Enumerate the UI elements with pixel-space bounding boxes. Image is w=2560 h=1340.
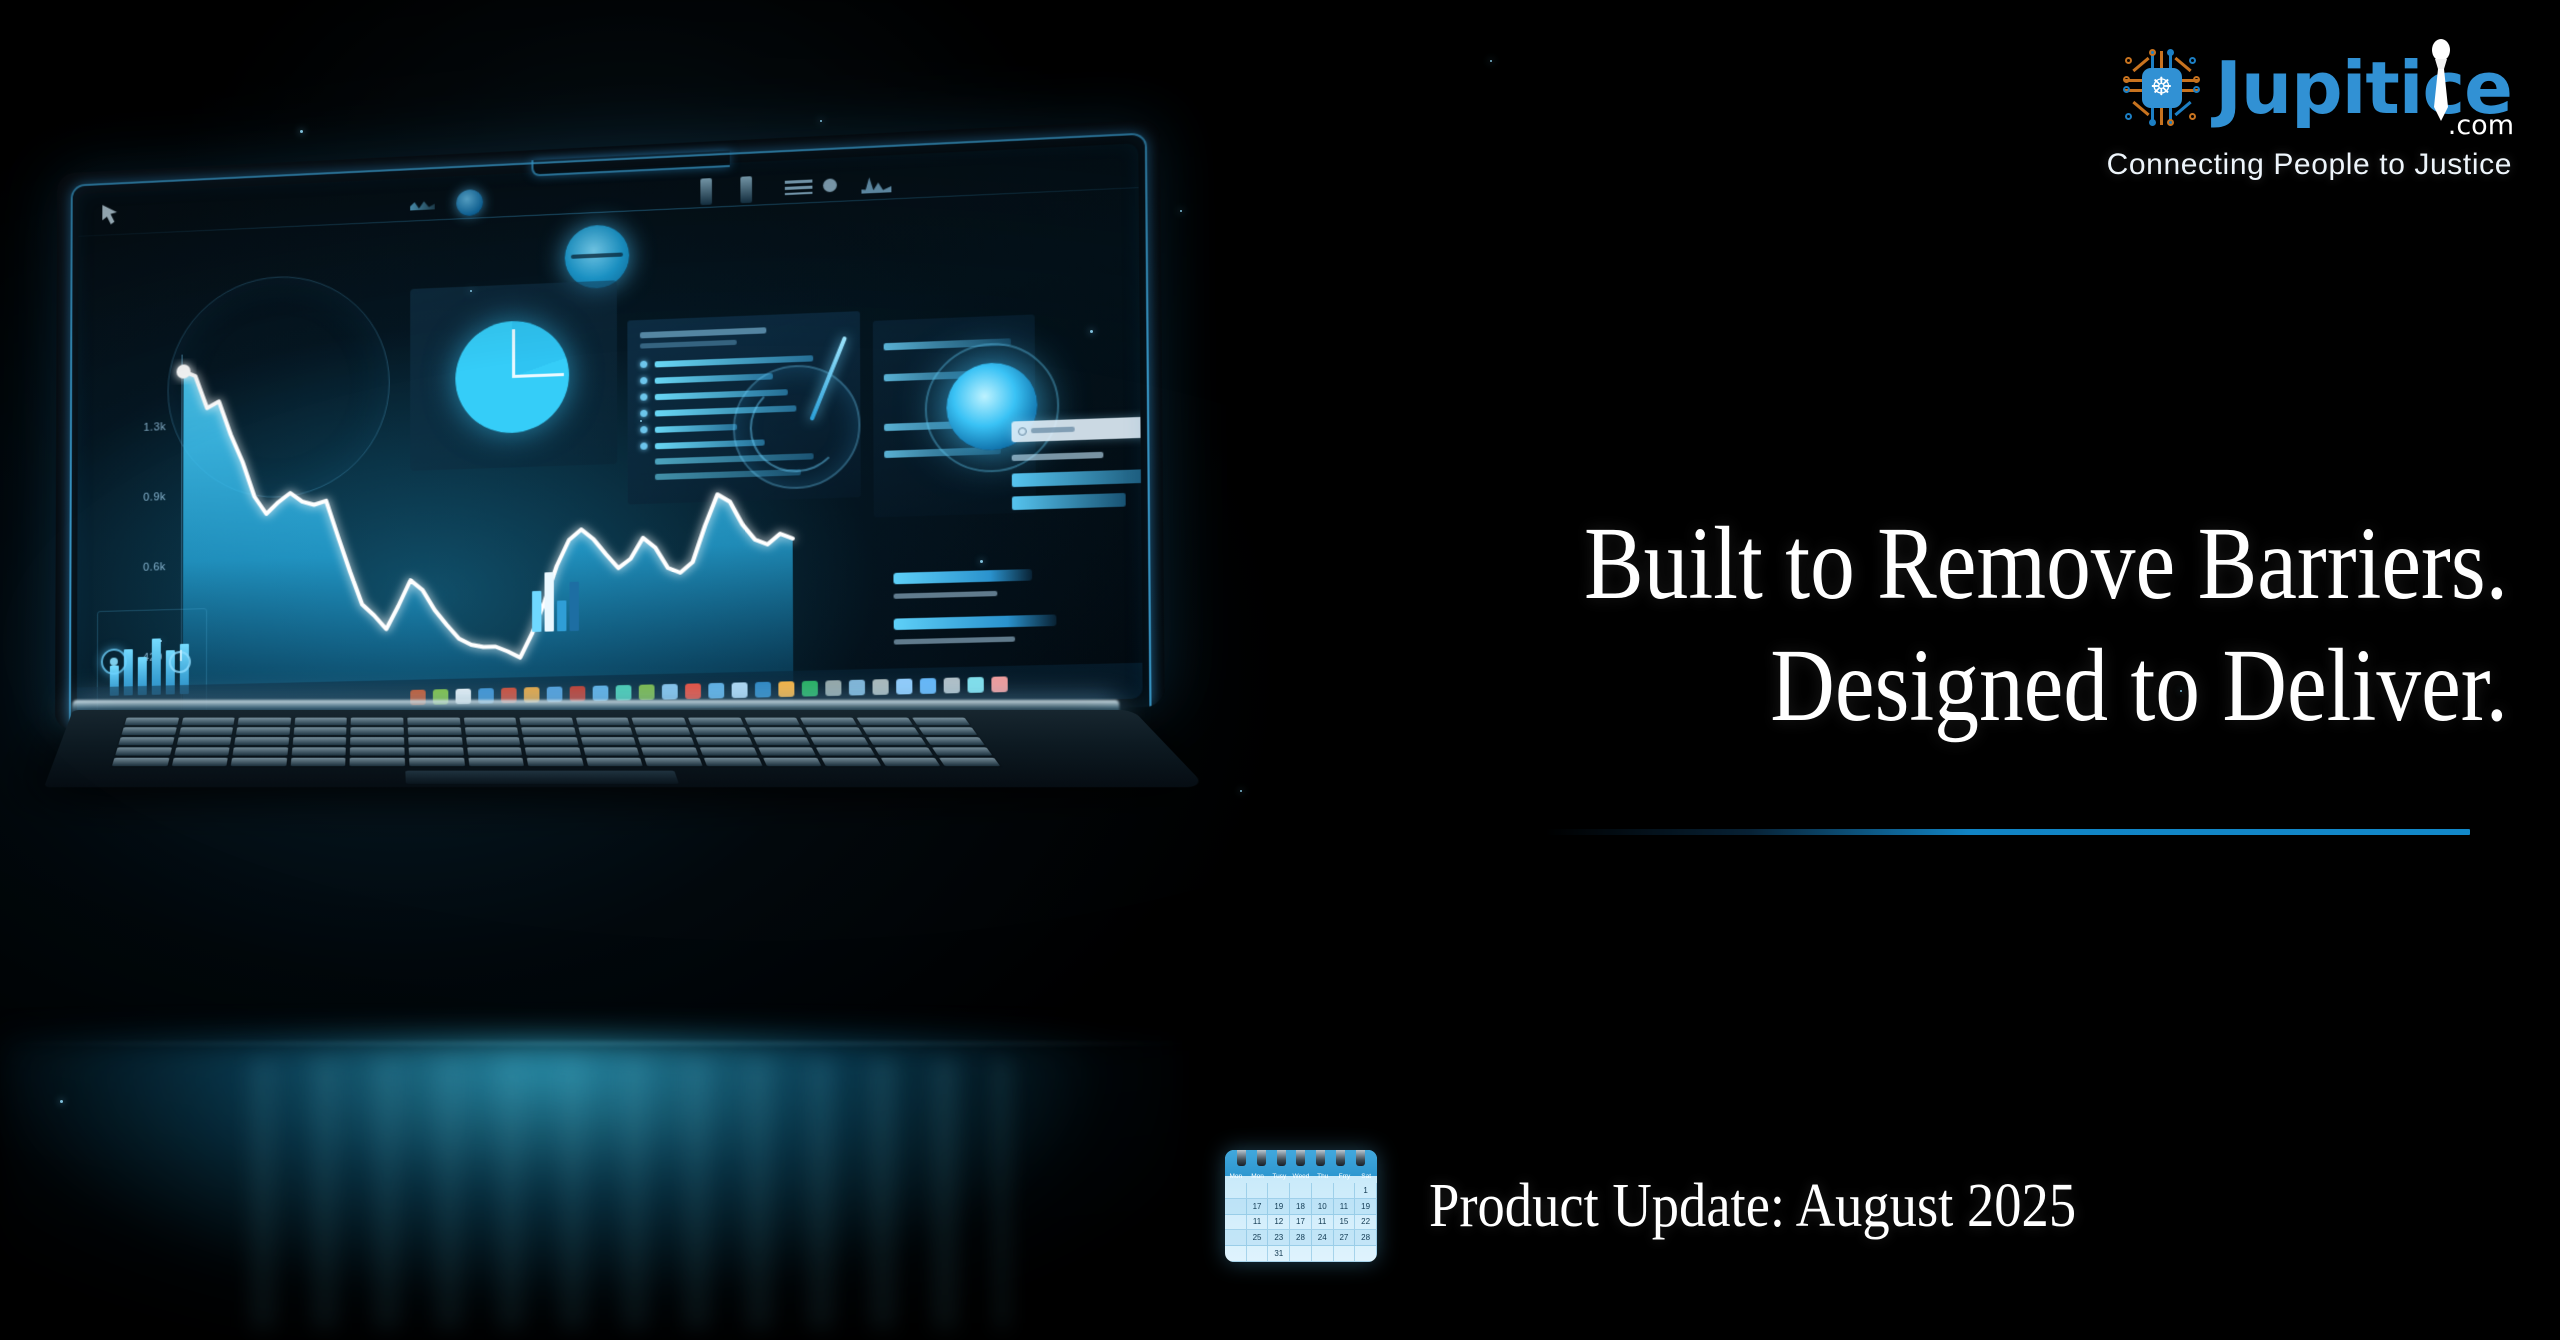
product-update-label: Product Update: August 2025 [1429, 1171, 2076, 1242]
keyboard-key[interactable] [118, 737, 174, 745]
keyboard-key[interactable] [523, 737, 578, 745]
ambient-particle [1240, 790, 1242, 792]
keyboard-key[interactable] [638, 737, 694, 745]
screen-glow-edge [69, 132, 1152, 729]
trackpad[interactable] [405, 771, 679, 784]
brand-tagline: Connecting People to Justice [1852, 148, 2512, 182]
keyboard-key[interactable] [290, 758, 346, 767]
keyboard-key[interactable] [115, 747, 172, 755]
calendar-date-cell [1225, 1246, 1247, 1262]
calendar-date-cell: 17 [1247, 1199, 1269, 1215]
keyboard-key[interactable] [292, 737, 346, 745]
laptop-bezel: 1.3k 0.9k 0.6k 420 210 1 Mar Jun Sep [55, 119, 1165, 730]
keyboard-key[interactable] [645, 758, 703, 767]
keyboard-key[interactable] [527, 758, 584, 767]
keyboard-key[interactable] [179, 727, 234, 735]
keyboard-key[interactable] [181, 718, 235, 726]
calendar-ring [1257, 1150, 1266, 1166]
keyboard-key[interactable] [351, 718, 404, 726]
calendar-date-cell: 11 [1312, 1215, 1334, 1231]
laptop-keyboard-base [44, 710, 1207, 787]
keyboard-keys[interactable] [112, 718, 1001, 767]
headline-line-2: Designed to Deliver. [1287, 634, 2508, 738]
keyboard-key[interactable] [236, 727, 290, 735]
laptop-lid: 1.3k 0.9k 0.6k 420 210 1 Mar Jun Sep [55, 119, 1165, 730]
keyboard-key[interactable] [753, 737, 811, 745]
marketing-banner: 1.3k 0.9k 0.6k 420 210 1 Mar Jun Sep [0, 0, 2560, 1340]
keyboard-key[interactable] [932, 747, 992, 755]
keyboard-key[interactable] [632, 718, 687, 726]
keyboard-key[interactable] [121, 727, 176, 735]
keyboard-key[interactable] [805, 727, 862, 735]
keyboard-key[interactable] [238, 718, 291, 726]
headline-line-1: Built to Remove Barriers. [1287, 512, 2508, 616]
calendar-date-cell [1268, 1183, 1290, 1199]
keyboard-key[interactable] [407, 718, 460, 726]
calendar-spiral-rings [1225, 1150, 1377, 1168]
keyboard-key[interactable] [822, 758, 882, 767]
calendar-date-cell: 19 [1355, 1199, 1377, 1215]
calendar-date-cell: 18 [1290, 1199, 1312, 1215]
footer-block: MonMonTusyWeedThuFrrySat 117191810111911… [1225, 1150, 2164, 1262]
keyboard-key[interactable] [294, 718, 347, 726]
keyboard-key[interactable] [466, 737, 521, 745]
keyboard-key[interactable] [231, 758, 287, 767]
calendar-date-cell: 25 [1247, 1230, 1269, 1246]
calendar-ring [1336, 1150, 1345, 1166]
keyboard-key[interactable] [521, 727, 576, 735]
keyboard-key[interactable] [696, 737, 753, 745]
keyboard-key[interactable] [291, 747, 346, 755]
ambient-particle [300, 130, 303, 133]
calendar-ring [1277, 1150, 1286, 1166]
calendar-day-header: Frry [1334, 1173, 1356, 1180]
calendar-date-cell [1334, 1183, 1356, 1199]
calendar-date-cell [1225, 1183, 1247, 1199]
keyboard-key[interactable] [744, 718, 800, 726]
keyboard-key[interactable] [749, 727, 806, 735]
keyboard-key[interactable] [583, 747, 640, 755]
keyboard-key[interactable] [758, 747, 816, 755]
keyboard-key[interactable] [874, 747, 934, 755]
keyboard-key[interactable] [700, 747, 758, 755]
calendar-date-cell [1225, 1215, 1247, 1231]
desk-edge-highlight [0, 1042, 1200, 1045]
calendar-date-cell: 31 [1268, 1246, 1290, 1262]
keyboard-key[interactable] [350, 747, 405, 755]
keyboard-key[interactable] [468, 758, 524, 767]
calendar-date-cell: 15 [1334, 1215, 1356, 1231]
keyboard-key[interactable] [293, 727, 346, 735]
calendar-date-grid: 117191810111911121711152225232824272831 [1225, 1183, 1377, 1262]
ambient-particle [1490, 60, 1492, 62]
keyboard-key[interactable] [408, 727, 462, 735]
keyboard-key[interactable] [351, 727, 404, 735]
calendar-date-cell [1290, 1246, 1312, 1262]
ambient-particle [820, 120, 822, 122]
keyboard-key[interactable] [176, 737, 231, 745]
keyboard-key[interactable] [581, 737, 637, 745]
keyboard-key[interactable] [171, 758, 228, 767]
keyboard-key[interactable] [409, 747, 464, 755]
keyboard-key[interactable] [926, 737, 985, 745]
keyboard-key[interactable] [912, 718, 970, 726]
calendar-date-cell: 10 [1312, 1199, 1334, 1215]
keyboard-key[interactable] [465, 727, 519, 735]
keyboard-key[interactable] [112, 758, 169, 767]
keyboard-key[interactable] [233, 747, 288, 755]
keyboard-key[interactable] [811, 737, 869, 745]
keyboard-key[interactable] [692, 727, 748, 735]
keyboard-key[interactable] [124, 718, 178, 726]
brand-logo-block: ☸ Jupitice .com Connecting People to Jus… [1852, 46, 2512, 182]
calendar-day-headers: MonMonTusyWeedThuFrrySat [1225, 1169, 1377, 1183]
calendar-date-cell: 11 [1334, 1199, 1356, 1215]
calendar-date-cell: 11 [1247, 1215, 1269, 1231]
calendar-day-header: Sat [1355, 1173, 1377, 1180]
keyboard-key[interactable] [234, 737, 289, 745]
calendar-date-cell: 12 [1268, 1215, 1290, 1231]
calendar-date-cell: 27 [1334, 1230, 1356, 1246]
keyboard-key[interactable] [919, 727, 978, 735]
calendar-day-header: Thu [1312, 1173, 1334, 1180]
keyboard-key[interactable] [816, 747, 875, 755]
calendar-date-cell: 24 [1312, 1230, 1334, 1246]
calendar-date-cell [1312, 1246, 1334, 1262]
calendar-date-cell: 17 [1290, 1215, 1312, 1231]
calendar-ring [1316, 1150, 1325, 1166]
brand-tld: .com [2448, 110, 2514, 141]
keyboard-key[interactable] [856, 718, 913, 726]
keyboard-key[interactable] [586, 758, 643, 767]
keyboard-key[interactable] [862, 727, 920, 735]
ambient-particle [60, 1100, 63, 1103]
calendar-date-cell [1247, 1183, 1269, 1199]
calendar-day-header: Tusy [1268, 1173, 1290, 1180]
calendar-date-cell: 1 [1355, 1183, 1377, 1199]
keyboard-key[interactable] [520, 718, 574, 726]
calendar-date-cell: 19 [1268, 1199, 1290, 1215]
calendar-date-cell: 22 [1355, 1215, 1377, 1231]
desk-reflection [0, 1040, 1180, 1340]
keyboard-key[interactable] [578, 727, 633, 735]
calendar-day-header: Mon [1247, 1173, 1269, 1180]
keyboard-key[interactable] [525, 747, 581, 755]
keyboard-key[interactable] [763, 758, 822, 767]
calendar-ring [1237, 1150, 1246, 1166]
keyboard-key[interactable] [408, 737, 462, 745]
keyboard-key[interactable] [939, 758, 1000, 767]
laptop-illustration: 1.3k 0.9k 0.6k 420 210 1 Mar Jun Sep [55, 170, 1115, 730]
calendar-date-cell: 28 [1355, 1230, 1377, 1246]
keyboard-key[interactable] [800, 718, 857, 726]
headline-block: Built to Remove Barriers. Designed to De… [1088, 512, 2508, 738]
keyboard-key[interactable] [409, 758, 465, 767]
calendar-date-cell [1334, 1246, 1356, 1262]
calendar-ring [1356, 1150, 1365, 1166]
calendar-date-cell: 28 [1290, 1230, 1312, 1246]
brain-chip-icon: ☸ [2123, 49, 2201, 127]
keyboard-key[interactable] [350, 737, 404, 745]
keyboard-key[interactable] [463, 718, 516, 726]
calendar-date-cell [1290, 1183, 1312, 1199]
brain-glyph: ☸ [2150, 75, 2172, 100]
keyboard-key[interactable] [881, 758, 941, 767]
calendar-date-cell: 23 [1268, 1230, 1290, 1246]
keyboard-key[interactable] [688, 718, 744, 726]
keyboard-key[interactable] [350, 758, 405, 767]
desk-reflection-streaks [250, 1060, 1010, 1330]
calendar-date-cell [1225, 1230, 1247, 1246]
keyboard-key[interactable] [704, 758, 763, 767]
calendar-date-cell [1247, 1246, 1269, 1262]
keyboard-key[interactable] [174, 747, 230, 755]
keyboard-key[interactable] [576, 718, 631, 726]
calendar-ring [1296, 1150, 1305, 1166]
keyboard-key[interactable] [868, 737, 927, 745]
calendar-date-cell [1225, 1199, 1247, 1215]
keyboard-key[interactable] [641, 747, 698, 755]
calendar-day-header: Mon [1225, 1173, 1247, 1180]
calendar-date-cell [1312, 1183, 1334, 1199]
calendar-date-cell [1355, 1246, 1377, 1262]
ambient-particle [1180, 210, 1182, 212]
keyboard-key[interactable] [635, 727, 691, 735]
keyboard-key[interactable] [467, 747, 522, 755]
calendar-icon: MonMonTusyWeedThuFrrySat 117191810111911… [1225, 1150, 1377, 1262]
accent-divider [1545, 829, 2470, 835]
calendar-day-header: Weed [1290, 1173, 1312, 1180]
